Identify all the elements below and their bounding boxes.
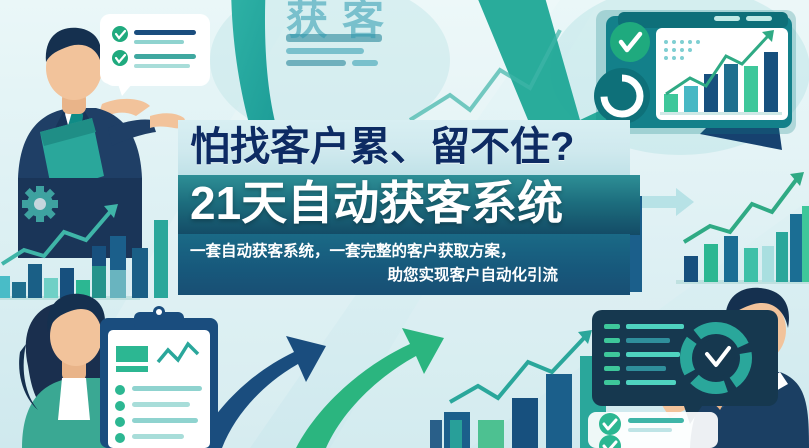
headline-band-secondary: 21天自动获客系统 — [178, 175, 640, 235]
headline-band-primary: 怕找客户累、留不住? — [178, 120, 630, 177]
checklist-bubble — [100, 14, 210, 96]
subtitle-line-2: 助您实现客户自动化引流 — [190, 264, 616, 287]
subtitle-band: 一套自动获客系统，一套完整的客户获取方案， 助您实现客户自动化引流 — [178, 234, 630, 295]
subtitle-line-1: 一套自动获客系统，一套完整的客户获取方案， — [190, 240, 616, 263]
checklist-clipboard — [100, 306, 218, 448]
headline-primary: 怕找客户累、留不住? — [190, 126, 614, 169]
watermark-text: 获客 — [286, 0, 398, 47]
headline-text-block: 怕找客户累、留不住? 21天自动获客系统 一套自动获客系统，一套完整的客户获取方… — [178, 120, 640, 295]
dashboard-card — [594, 10, 796, 134]
bottom-right-check-list — [588, 412, 718, 448]
headline-secondary: 21天自动获客系统 — [190, 179, 626, 227]
gear-icon — [22, 186, 58, 222]
poster-canvas: 获客 怕找客户累、留不住? 21天自动获客系统 一套自动获客系统，一套完整的客户… — [0, 0, 809, 448]
